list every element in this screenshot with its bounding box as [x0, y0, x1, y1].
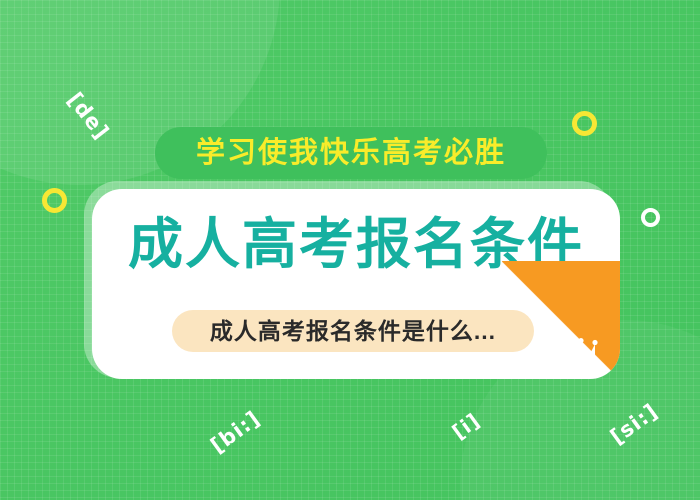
crown-icon: [564, 338, 598, 364]
subtitle-pill: 成人高考报名条件是什么...: [172, 310, 534, 352]
slogan-banner: 学习使我快乐高考必胜: [155, 127, 547, 179]
poster-canvas: [de] [bi:] [i] [si:] 学习使我快乐高考必胜 成人高考报名条件…: [0, 0, 700, 500]
slogan-text: 学习使我快乐高考必胜: [196, 139, 506, 168]
decorative-ring-yellow-left: [42, 188, 67, 213]
decorative-ring-yellow-top: [572, 111, 597, 136]
decorative-ring-white-right: [641, 208, 660, 227]
subtitle-text: 成人高考报名条件是什么...: [210, 320, 496, 343]
